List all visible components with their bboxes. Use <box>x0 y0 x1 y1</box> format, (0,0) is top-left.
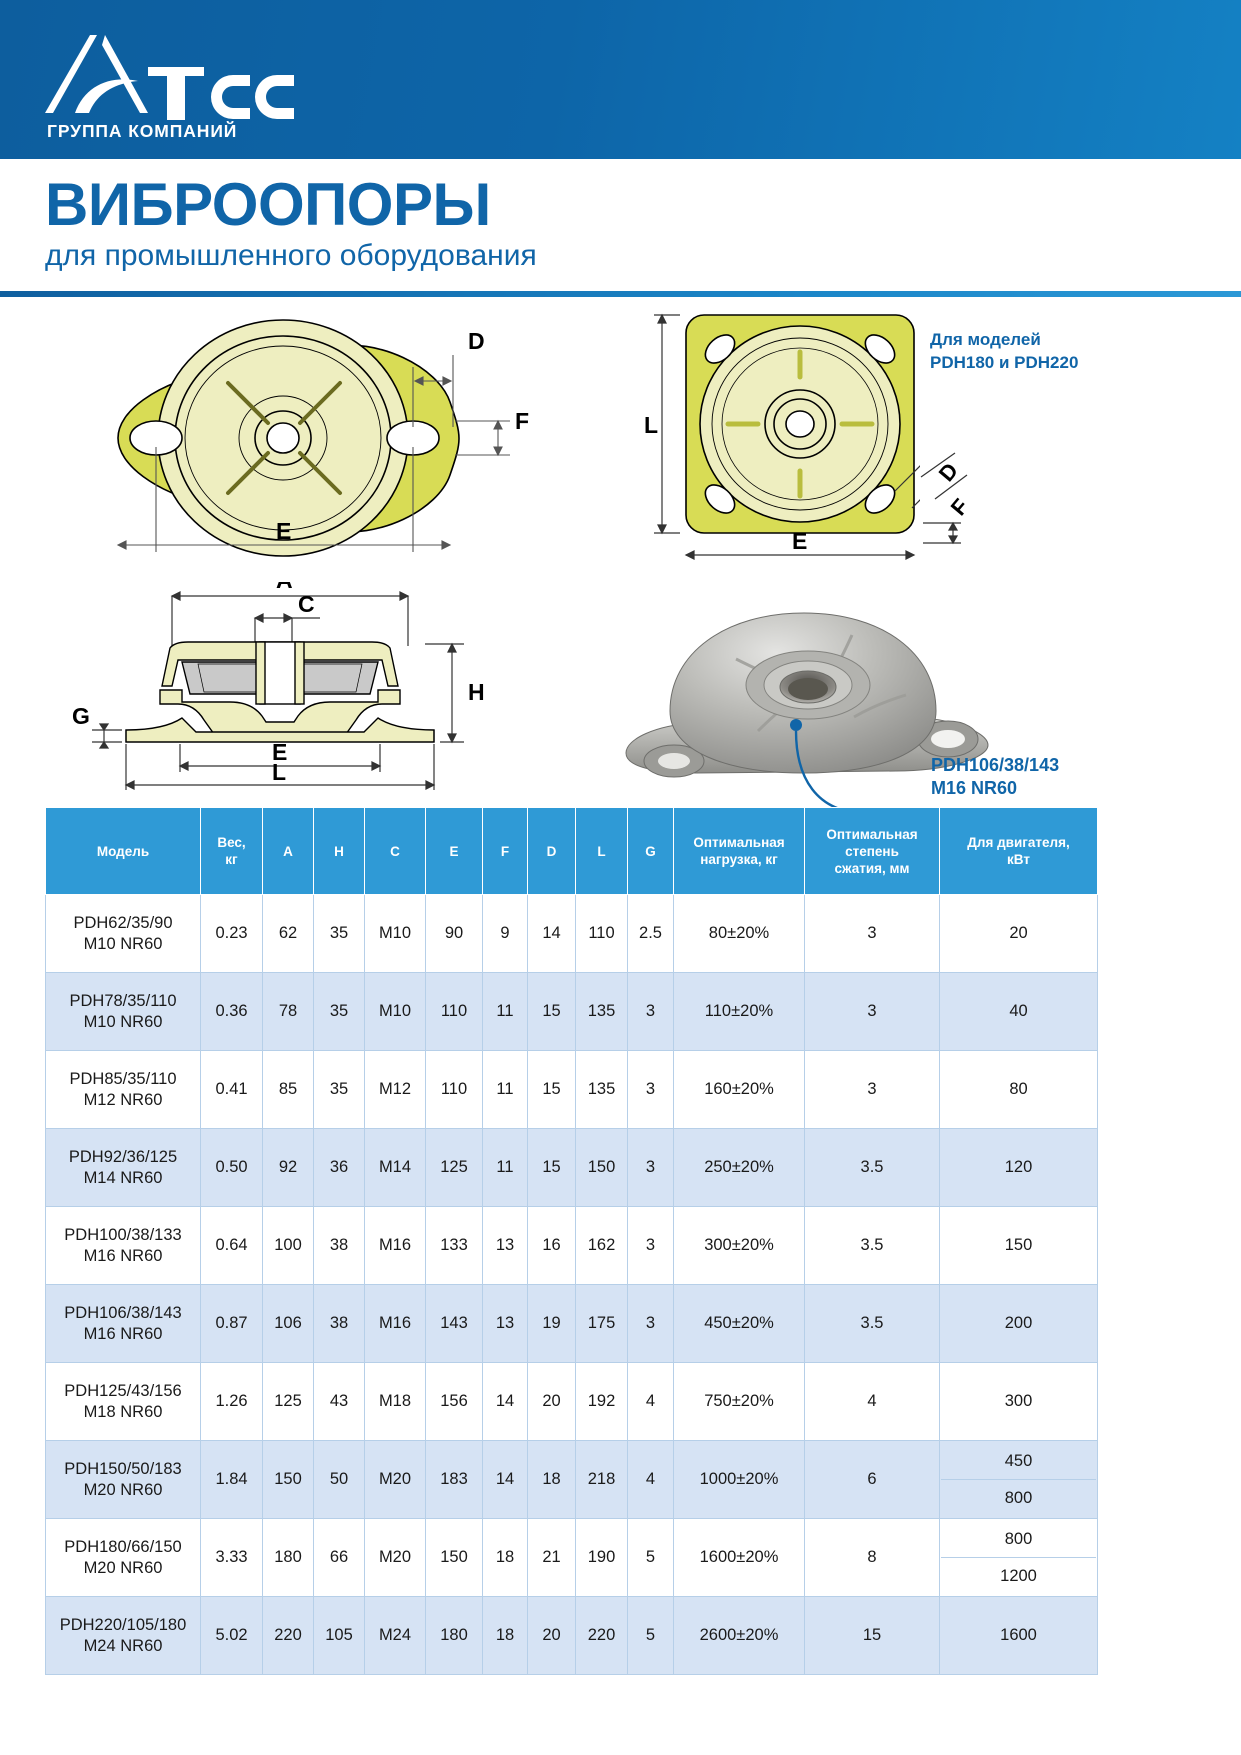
cell-h: 35 <box>314 895 365 973</box>
cell-compression: 4 <box>805 1363 940 1441</box>
dim-label-L-square: L <box>644 412 658 438</box>
cell-c: M14 <box>365 1129 426 1207</box>
cell-g: 4 <box>628 1441 674 1519</box>
cell-load: 110±20% <box>674 973 805 1051</box>
col-header-h: H <box>314 808 365 895</box>
logo-subtitle: ГРУППА КОМПАНИЙ <box>47 121 237 142</box>
cell-l: 110 <box>576 895 628 973</box>
cell-l: 190 <box>576 1519 628 1597</box>
cell-load: 450±20% <box>674 1285 805 1363</box>
cell-weight: 0.36 <box>201 973 263 1051</box>
cell-a: 78 <box>263 973 314 1051</box>
cell-load: 2600±20% <box>674 1597 805 1675</box>
cell-l: 175 <box>576 1285 628 1363</box>
cell-f: 18 <box>483 1597 528 1675</box>
cell-weight: 0.41 <box>201 1051 263 1129</box>
cell-motor-upper: 800 <box>941 1521 1096 1558</box>
cell-e: 133 <box>426 1207 483 1285</box>
note-for-models: Для моделей PDH180 и PDH220 <box>930 328 1078 374</box>
cell-weight: 5.02 <box>201 1597 263 1675</box>
cell-load: 160±20% <box>674 1051 805 1129</box>
cell-a: 150 <box>263 1441 314 1519</box>
cell-motor-lower: 1200 <box>941 1558 1096 1594</box>
cell-load: 80±20% <box>674 895 805 973</box>
cell-e: 156 <box>426 1363 483 1441</box>
cell-compression: 3 <box>805 895 940 973</box>
table-row: PDH85/35/110 M12 NR60 0.41 85 35 M12 110… <box>46 1051 1098 1129</box>
tcc-triangle-logo-icon <box>45 33 150 119</box>
cell-load: 1000±20% <box>674 1441 805 1519</box>
cell-model: PDH62/35/90 M10 NR60 <box>46 895 201 973</box>
company-logo: ГРУППА КОМПАНИЙ <box>45 33 275 143</box>
cell-l: 192 <box>576 1363 628 1441</box>
cell-motor: 120 <box>940 1129 1098 1207</box>
cell-motor-split: 450 800 <box>940 1441 1098 1519</box>
table-header-row: Модель Вес, кг A H C E F D L G Оптимальн… <box>46 808 1098 895</box>
cell-model: PDH78/35/110 M10 NR60 <box>46 973 201 1051</box>
cell-g: 3 <box>628 1129 674 1207</box>
table-row: PDH125/43/156 M18 NR60 1.26 125 43 M18 1… <box>46 1363 1098 1441</box>
dim-label-F-square: F <box>946 494 974 520</box>
cell-weight: 1.84 <box>201 1441 263 1519</box>
cell-e: 143 <box>426 1285 483 1363</box>
cell-model: PDH106/38/143 M16 NR60 <box>46 1285 201 1363</box>
dim-label-L-section: L <box>272 759 286 785</box>
dim-label-A: A <box>276 582 293 593</box>
cell-l: 218 <box>576 1441 628 1519</box>
cell-e: 150 <box>426 1519 483 1597</box>
cell-d: 20 <box>528 1363 576 1441</box>
cell-e: 125 <box>426 1129 483 1207</box>
dim-label-H: H <box>468 679 485 705</box>
cell-f: 11 <box>483 1129 528 1207</box>
cell-h: 38 <box>314 1207 365 1285</box>
cell-d: 21 <box>528 1519 576 1597</box>
cell-weight: 3.33 <box>201 1519 263 1597</box>
title-block: ВИБРООПОРЫ для промышленного оборудовани… <box>45 176 537 274</box>
cell-motor: 200 <box>940 1285 1098 1363</box>
cell-motor: 20 <box>940 895 1098 973</box>
cell-model: PDH92/36/125 M14 NR60 <box>46 1129 201 1207</box>
cell-f: 14 <box>483 1441 528 1519</box>
cell-motor-upper: 450 <box>941 1443 1096 1480</box>
cell-compression: 3.5 <box>805 1285 940 1363</box>
cell-f: 13 <box>483 1285 528 1363</box>
cell-f: 14 <box>483 1363 528 1441</box>
cell-a: 220 <box>263 1597 314 1675</box>
cell-l: 135 <box>576 973 628 1051</box>
cell-model: PDH220/105/180 M24 NR60 <box>46 1597 201 1675</box>
cell-weight: 1.26 <box>201 1363 263 1441</box>
cell-f: 13 <box>483 1207 528 1285</box>
cell-h: 105 <box>314 1597 365 1675</box>
dim-label-E: E <box>276 518 291 544</box>
cell-c: M16 <box>365 1207 426 1285</box>
dim-label-G: G <box>72 703 90 729</box>
cell-l: 135 <box>576 1051 628 1129</box>
dim-label-C: C <box>298 591 315 617</box>
cell-l: 220 <box>576 1597 628 1675</box>
cell-weight: 0.23 <box>201 895 263 973</box>
cell-e: 110 <box>426 1051 483 1129</box>
square-flange-top-view-drawing: L E <box>640 305 920 573</box>
cell-compression: 3 <box>805 973 940 1051</box>
cell-f: 11 <box>483 973 528 1051</box>
cell-a: 125 <box>263 1363 314 1441</box>
cell-g: 3 <box>628 1285 674 1363</box>
cell-load: 750±20% <box>674 1363 805 1441</box>
cell-h: 66 <box>314 1519 365 1597</box>
cell-a: 62 <box>263 895 314 973</box>
cell-weight: 0.50 <box>201 1129 263 1207</box>
col-header-model: Модель <box>46 808 201 895</box>
cell-a: 92 <box>263 1129 314 1207</box>
cell-motor-lower: 800 <box>941 1480 1096 1516</box>
oval-flange-top-view-drawing: D F E <box>78 307 538 572</box>
table-row: PDH62/35/90 M10 NR60 0.23 62 35 M10 90 9… <box>46 895 1098 973</box>
cell-h: 35 <box>314 973 365 1051</box>
table-row: PDH106/38/143 M16 NR60 0.87 106 38 M16 1… <box>46 1285 1098 1363</box>
table-body: PDH62/35/90 M10 NR60 0.23 62 35 M10 90 9… <box>46 895 1098 1675</box>
cell-compression: 3.5 <box>805 1207 940 1285</box>
cell-a: 85 <box>263 1051 314 1129</box>
cell-l: 162 <box>576 1207 628 1285</box>
cell-motor: 40 <box>940 973 1098 1051</box>
page-subtitle: для промышленного оборудования <box>45 238 537 274</box>
dim-label-E-square: E <box>792 528 807 554</box>
cell-g: 4 <box>628 1363 674 1441</box>
cell-e: 90 <box>426 895 483 973</box>
cell-d: 16 <box>528 1207 576 1285</box>
cell-weight: 0.87 <box>201 1285 263 1363</box>
cell-h: 50 <box>314 1441 365 1519</box>
col-header-e: E <box>426 808 483 895</box>
cell-g: 3 <box>628 1207 674 1285</box>
cell-g: 5 <box>628 1519 674 1597</box>
cell-c: M10 <box>365 973 426 1051</box>
cell-load: 300±20% <box>674 1207 805 1285</box>
product-callout-label: PDH106/38/143 M16 NR60 <box>931 754 1059 800</box>
cell-motor: 300 <box>940 1363 1098 1441</box>
cell-model: PDH125/43/156 M18 NR60 <box>46 1363 201 1441</box>
col-header-f: F <box>483 808 528 895</box>
table-row: PDH180/66/150 M20 NR60 3.33 180 66 M20 1… <box>46 1519 1098 1597</box>
table-row: PDH78/35/110 M10 NR60 0.36 78 35 M10 110… <box>46 973 1098 1051</box>
col-header-weight: Вес, кг <box>201 808 263 895</box>
cell-g: 3 <box>628 1051 674 1129</box>
cell-d: 14 <box>528 895 576 973</box>
cell-model: PDH150/50/183 M20 NR60 <box>46 1441 201 1519</box>
cell-model: PDH180/66/150 M20 NR60 <box>46 1519 201 1597</box>
cell-d: 15 <box>528 1051 576 1129</box>
specification-table-wrapper: Модель Вес, кг A H C E F D L G Оптимальн… <box>45 807 1097 1675</box>
page-title: ВИБРООПОРЫ <box>45 176 537 234</box>
cell-model: PDH85/35/110 M12 NR60 <box>46 1051 201 1129</box>
cell-compression: 15 <box>805 1597 940 1675</box>
cell-compression: 3.5 <box>805 1129 940 1207</box>
cell-motor-split: 800 1200 <box>940 1519 1098 1597</box>
cell-motor: 1600 <box>940 1597 1098 1675</box>
cell-weight: 0.64 <box>201 1207 263 1285</box>
cell-e: 110 <box>426 973 483 1051</box>
cell-h: 43 <box>314 1363 365 1441</box>
cell-compression: 3 <box>805 1051 940 1129</box>
cell-e: 183 <box>426 1441 483 1519</box>
cell-h: 35 <box>314 1051 365 1129</box>
cell-c: M10 <box>365 895 426 973</box>
col-header-l: L <box>576 808 628 895</box>
table-row: PDH92/36/125 M14 NR60 0.50 92 36 M14 125… <box>46 1129 1098 1207</box>
cell-f: 9 <box>483 895 528 973</box>
cell-g: 2.5 <box>628 895 674 973</box>
tcc-wordmark-icon <box>148 65 300 125</box>
cell-motor: 80 <box>940 1051 1098 1129</box>
cell-c: M20 <box>365 1519 426 1597</box>
cell-c: M12 <box>365 1051 426 1129</box>
dim-label-F: F <box>515 408 529 434</box>
table-row: PDH220/105/180 M24 NR60 5.02 220 105 M24… <box>46 1597 1098 1675</box>
dim-label-D: D <box>468 328 485 354</box>
col-header-load: Оптимальная нагрузка, кг <box>674 808 805 895</box>
cell-d: 18 <box>528 1441 576 1519</box>
cell-e: 180 <box>426 1597 483 1675</box>
cell-h: 36 <box>314 1129 365 1207</box>
cell-d: 20 <box>528 1597 576 1675</box>
cell-a: 100 <box>263 1207 314 1285</box>
cell-c: M16 <box>365 1285 426 1363</box>
cell-g: 3 <box>628 973 674 1051</box>
cell-c: M24 <box>365 1597 426 1675</box>
cell-load: 250±20% <box>674 1129 805 1207</box>
cell-f: 11 <box>483 1051 528 1129</box>
table-row: PDH100/38/133 M16 NR60 0.64 100 38 M16 1… <box>46 1207 1098 1285</box>
cell-model: PDH100/38/133 M16 NR60 <box>46 1207 201 1285</box>
cell-a: 106 <box>263 1285 314 1363</box>
col-header-compression: Оптимальная степень сжатия, мм <box>805 808 940 895</box>
cell-d: 15 <box>528 973 576 1051</box>
col-header-d: D <box>528 808 576 895</box>
cell-h: 38 <box>314 1285 365 1363</box>
col-header-c: C <box>365 808 426 895</box>
cell-load: 1600±20% <box>674 1519 805 1597</box>
cell-c: M20 <box>365 1441 426 1519</box>
cell-c: M18 <box>365 1363 426 1441</box>
cell-d: 19 <box>528 1285 576 1363</box>
cell-compression: 8 <box>805 1519 940 1597</box>
cell-l: 150 <box>576 1129 628 1207</box>
specification-table: Модель Вес, кг A H C E F D L G Оптимальн… <box>45 807 1098 1675</box>
cell-motor: 150 <box>940 1207 1098 1285</box>
cell-compression: 6 <box>805 1441 940 1519</box>
cell-d: 15 <box>528 1129 576 1207</box>
square-flange-DF-dimensions: D F <box>915 447 985 567</box>
cross-section-side-view-drawing: A C <box>70 582 490 797</box>
cell-a: 180 <box>263 1519 314 1597</box>
table-row: PDH150/50/183 M20 NR60 1.84 150 50 M20 1… <box>46 1441 1098 1519</box>
col-header-a: A <box>263 808 314 895</box>
col-header-g: G <box>628 808 674 895</box>
cell-f: 18 <box>483 1519 528 1597</box>
col-header-motor: Для двигателя, кВт <box>940 808 1098 895</box>
cell-g: 5 <box>628 1597 674 1675</box>
